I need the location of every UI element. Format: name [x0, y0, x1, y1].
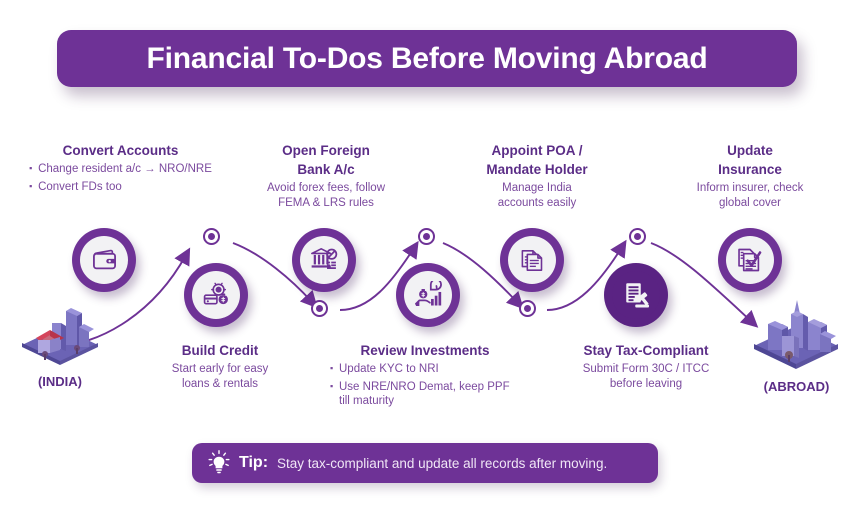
step-7-title-line1: Update — [665, 143, 835, 159]
step-5-title-line2: Mandate Holder — [452, 162, 622, 178]
step-1-bullet-2: Convert FDs too — [29, 180, 212, 195]
endpoint-india: (INDIA) — [14, 305, 106, 389]
step-6-subtitle-line2: before leaving — [548, 377, 744, 392]
endpoint-india-label: (INDIA) — [14, 374, 106, 389]
title-banner: Financial To-Dos Before Moving Abroad — [57, 30, 797, 87]
step-2-text: Build Credit Start early for easy loans … — [150, 343, 290, 391]
step-1-text: Convert Accounts Change resident a/c → N… — [28, 143, 213, 197]
step-7-icon-inner — [726, 236, 774, 284]
step-7-text: Update Insurance Inform insurer, check g… — [665, 143, 835, 210]
tip-text: Stay tax-compliant and update all record… — [277, 456, 607, 471]
investment-growth-icon — [414, 281, 442, 309]
step-4-bullet-1: Update KYC to NRI — [330, 362, 520, 377]
step-3-icon-node[interactable] — [292, 228, 356, 292]
step-5-subtitle-line2: accounts easily — [452, 196, 622, 211]
step-3-text: Open Foreign Bank A/c Avoid forex fees, … — [240, 143, 412, 210]
path-marker-1 — [203, 228, 220, 245]
step-5-title-line1: Appoint POA / — [452, 143, 622, 159]
path-marker-3 — [418, 228, 435, 245]
endpoint-abroad-label: (ABROAD) — [744, 379, 849, 394]
step-5-subtitle-line1: Manage India — [452, 181, 622, 196]
step-6-text: Stay Tax-Compliant Submit Form 30C / ITC… — [548, 343, 744, 391]
step-4-icon-node[interactable] — [396, 263, 460, 327]
step-2-icon-node[interactable] — [184, 263, 248, 327]
step-1-icon-inner — [80, 236, 128, 284]
documents-icon — [519, 247, 546, 274]
step-7-subtitle-line2: global cover — [665, 196, 835, 211]
step-5-icon-inner — [508, 236, 556, 284]
step-4-icon-inner — [404, 271, 452, 319]
tip-label: Tip: — [239, 454, 268, 472]
city-skyline-isometric-icon — [744, 300, 849, 372]
path-marker-5 — [629, 228, 646, 245]
step-6-icon-node[interactable] — [604, 263, 668, 327]
step-6-subtitle-line1: Submit Form 30C / ITCC — [548, 362, 744, 377]
step-4-title: Review Investments — [330, 343, 520, 359]
step-5-icon-node[interactable] — [500, 228, 564, 292]
step-1-title: Convert Accounts — [28, 143, 213, 159]
step-1-bullets: Change resident a/c → NRO/NRE Convert FD… — [29, 162, 212, 197]
step-2-subtitle-line2: loans & rentals — [150, 377, 290, 392]
path-marker-4 — [519, 300, 536, 317]
infographic-canvas: Financial To-Dos Before Moving Abroad — [0, 0, 855, 514]
step-2-icon-inner — [192, 271, 240, 319]
endpoint-abroad: (ABROAD) — [744, 300, 849, 394]
tip-bar: Tip: Stay tax-compliant and update all r… — [192, 443, 658, 483]
step-3-subtitle-line1: Avoid forex fees, follow — [240, 181, 412, 196]
step-2-title: Build Credit — [150, 343, 290, 359]
wallet-icon — [91, 247, 118, 274]
credit-card-money-icon — [202, 281, 230, 309]
checklist-check-icon — [736, 246, 764, 274]
step-7-subtitle-line1: Inform insurer, check — [665, 181, 835, 196]
lightbulb-icon — [208, 450, 230, 476]
step-7-title-line2: Insurance — [665, 162, 835, 178]
step-2-subtitle-line1: Start early for easy — [150, 362, 290, 377]
step-3-icon-inner — [300, 236, 348, 284]
step-7-icon-node[interactable] — [718, 228, 782, 292]
step-3-subtitle-line2: FEMA & LRS rules — [240, 196, 412, 211]
step-6-icon-inner — [612, 271, 660, 319]
page-title: Financial To-Dos Before Moving Abroad — [147, 42, 708, 76]
step-6-title: Stay Tax-Compliant — [548, 343, 744, 359]
step-4-bullets: Update KYC to NRI Use NRE/NRO Demat, kee… — [330, 362, 520, 412]
step-1-bullet-1: Change resident a/c → NRO/NRE — [29, 162, 212, 177]
step-4-text: Review Investments Update KYC to NRI Use… — [330, 343, 520, 412]
step-3-title-line2: Bank A/c — [240, 162, 412, 178]
step-5-text: Appoint POA / Mandate Holder Manage Indi… — [452, 143, 622, 210]
city-house-isometric-icon — [14, 305, 106, 367]
bank-building-icon — [310, 246, 338, 274]
path-marker-2 — [311, 300, 328, 317]
step-4-bullet-2: Use NRE/NRO Demat, keep PPF till maturit… — [330, 380, 520, 409]
step-3-title-line1: Open Foreign — [240, 143, 412, 159]
step-1-icon-node[interactable] — [72, 228, 136, 292]
document-gavel-icon — [621, 280, 651, 310]
